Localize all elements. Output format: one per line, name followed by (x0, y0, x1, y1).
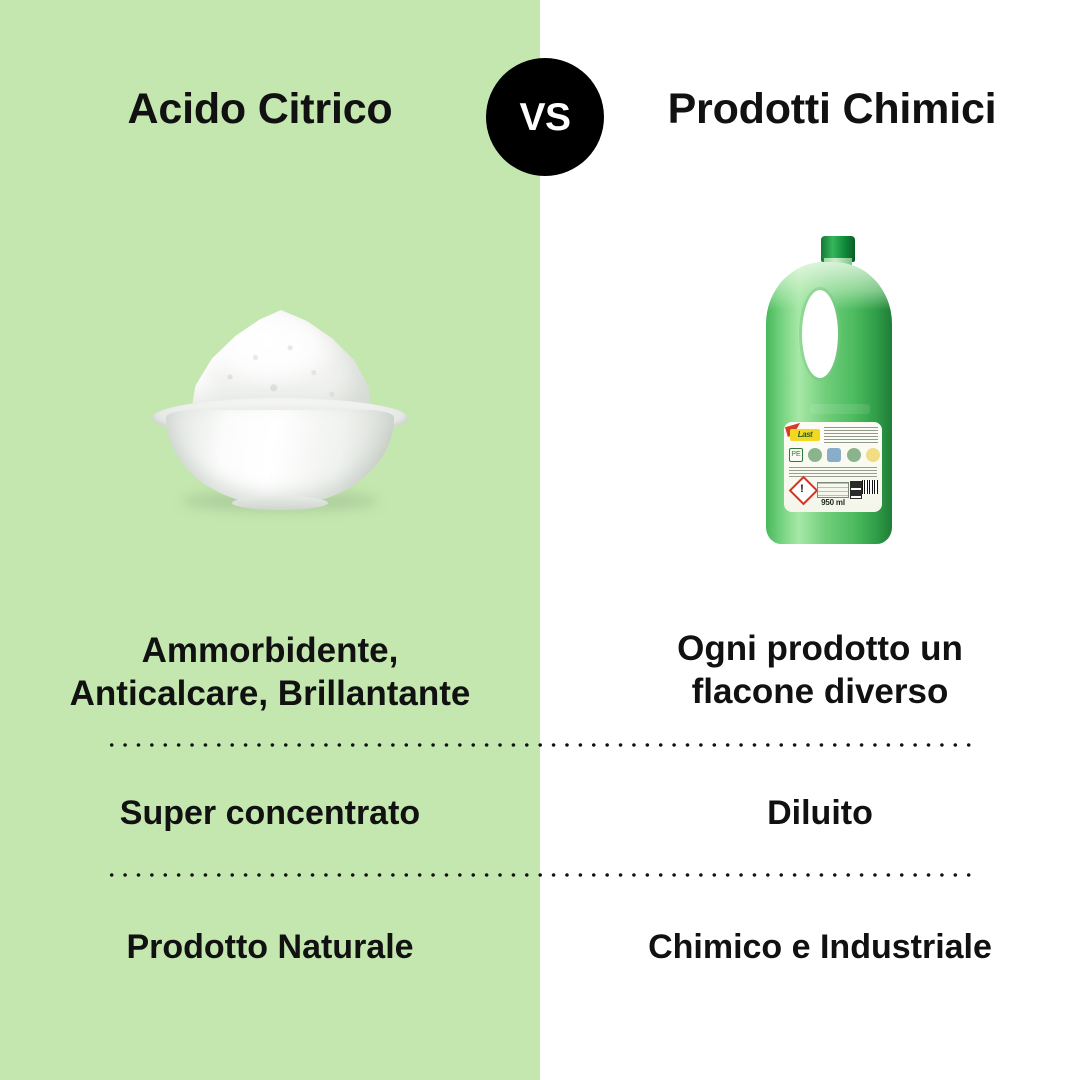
feature-icon-3 (847, 448, 861, 462)
feature-icon-1 (808, 448, 822, 462)
row-divider-1 (105, 742, 971, 748)
label-volume-text: 950 ml (784, 498, 882, 507)
recycle-icon: PE (789, 448, 803, 462)
row-1-left-line-1: Ammorbidente, (10, 630, 530, 673)
bowl-body (166, 410, 394, 506)
comparison-infographic: Acido Citrico Prodotti Chimici VS Last P… (0, 0, 1080, 1080)
vs-badge-label: VS (519, 98, 570, 137)
label-brand-logo: Last (790, 429, 820, 441)
label-feature-icons (808, 446, 880, 464)
lemon-icon (866, 448, 880, 462)
left-column-title: Acido Citrico (0, 86, 520, 133)
label-description-text (824, 427, 878, 445)
row-1-right-line-1: Ogni prodotto un (560, 628, 1080, 671)
hazard-exclamation-mark: ! (797, 482, 807, 496)
row-3-right-text: Chimico e Industriale (560, 927, 1080, 968)
row-3-left-text: Prodotto Naturale (10, 927, 530, 968)
right-column-title: Prodotti Chimici (572, 86, 1080, 133)
bowl-foot (232, 496, 328, 510)
row-divider-2 (105, 872, 971, 878)
row-1-left-line-2: Anticalcare, Brillantante (10, 673, 530, 716)
vs-badge: VS (486, 58, 604, 176)
row-1-right-text: Ogni prodotto un flacone diverso (560, 628, 1080, 713)
label-dosage-table (817, 482, 849, 498)
green-detergent-bottle-icon: Last PE ! 950 ml (766, 236, 892, 544)
row-2-right-text: Diluito (560, 793, 1080, 834)
bottle-label: Last PE ! 950 ml (784, 422, 882, 512)
left-column-background (0, 0, 540, 1080)
row-2-left-text: Super concentrato (10, 793, 530, 834)
row-1-left-text: Ammorbidente, Anticalcare, Brillantante (10, 630, 530, 715)
row-1-right-line-2: flacone diverso (560, 671, 1080, 714)
bottle-embossed-text (810, 404, 870, 414)
barcode-icon (862, 480, 878, 494)
bottle-handle-cutout (802, 290, 838, 378)
bowl-of-white-powder-icon (152, 310, 408, 505)
label-pictograms (850, 481, 862, 499)
feature-icon-2 (827, 448, 841, 462)
